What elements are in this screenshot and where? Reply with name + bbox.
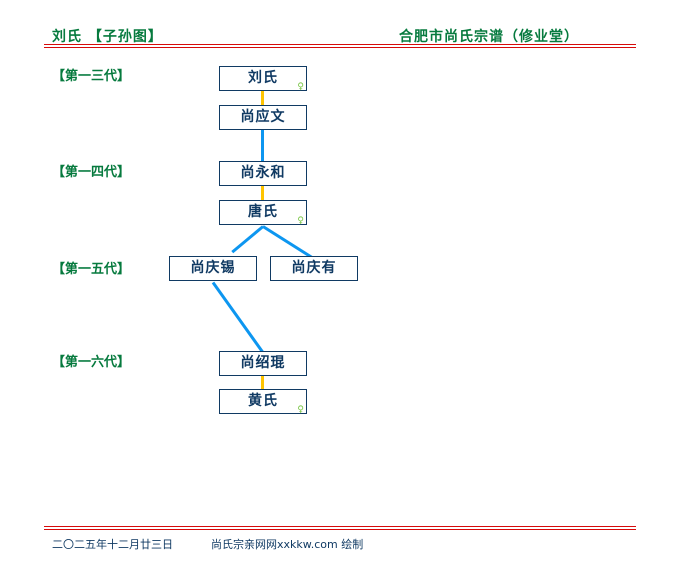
female-marker-icon: ♀ (297, 83, 304, 92)
person-box-tangshi[interactable]: 唐氏 ♀ (219, 200, 307, 225)
spouse-link-liushi-shangyingwen (261, 91, 264, 105)
person-box-shangyingwen[interactable]: 尚应文 (219, 105, 307, 130)
person-name: 尚应文 (241, 109, 286, 125)
page-title-left: 刘氏 【子孙图】 (52, 26, 163, 46)
person-name: 尚永和 (241, 165, 286, 181)
spouse-link-shangshaokun-huangshi (261, 376, 264, 389)
person-box-shangqingxi[interactable]: 尚庆锡 (169, 256, 257, 281)
person-name: 刘氏 (248, 70, 278, 86)
person-name: 唐氏 (248, 204, 278, 220)
header-rule-upper (44, 44, 636, 45)
person-box-shangshaokun[interactable]: 尚绍琨 (219, 351, 307, 376)
person-name: 尚庆锡 (191, 260, 236, 276)
footer-rule-lower (44, 529, 636, 530)
person-name: 尚庆有 (292, 260, 337, 276)
female-marker-icon: ♀ (297, 217, 304, 226)
person-box-huangshi[interactable]: 黄氏 ♀ (219, 389, 307, 414)
person-box-shangqingyou[interactable]: 尚庆有 (270, 256, 358, 281)
person-name: 黄氏 (248, 393, 278, 409)
page-title-right: 合肥市尚氏宗谱（修业堂） (399, 26, 579, 46)
generation-label-16: 【第一六代】 (52, 351, 130, 370)
genealogy-chart-page: 刘氏 【子孙图】 合肥市尚氏宗谱（修业堂） 【第一三代】 【第一四代】 【第一五… (0, 0, 680, 580)
footer-credit: 尚氏宗亲网网xxkkw.com 绘制 (211, 536, 363, 552)
generation-label-13: 【第一三代】 (52, 65, 130, 84)
descent-link-tangshi-shangqingyou (262, 225, 313, 259)
footer-date: 二〇二五年十二月廿三日 (52, 536, 173, 552)
person-name: 尚绍琨 (241, 355, 286, 371)
female-marker-icon: ♀ (297, 406, 304, 415)
descent-link-shangqingxi-shangshaokun (212, 282, 264, 354)
descent-link-shangyingwen-shangyonghe (261, 130, 264, 161)
person-box-shangyonghe[interactable]: 尚永和 (219, 161, 307, 186)
header-rule-lower (44, 47, 636, 48)
descent-link-tangshi-shangqingxi (231, 225, 264, 253)
person-box-liushi[interactable]: 刘氏 ♀ (219, 66, 307, 91)
generation-label-15: 【第一五代】 (52, 258, 130, 277)
footer-rule-upper (44, 526, 636, 527)
spouse-link-shangyonghe-tangshi (261, 186, 264, 200)
generation-label-14: 【第一四代】 (52, 161, 130, 180)
